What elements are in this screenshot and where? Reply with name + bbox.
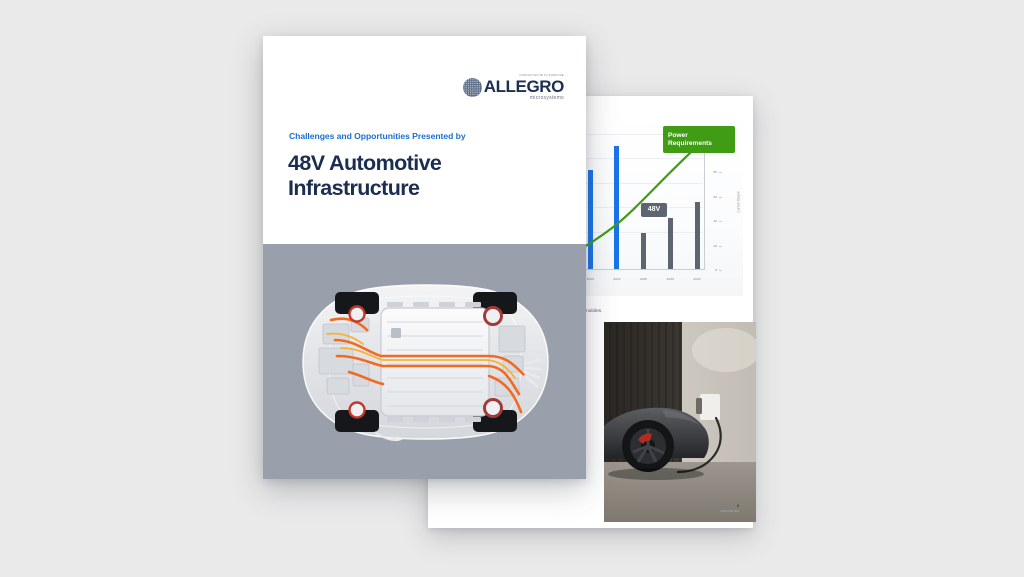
ev-chassis-top-view-graphic <box>263 244 586 479</box>
ev-charging-photo <box>604 322 756 522</box>
chart-badge-power-requirements: Power Requirements <box>663 126 735 153</box>
logo-wordmark: ALLEGRO <box>484 78 564 95</box>
allegro-logo: INNOVATION WITH PURPOSE ALLEGRO microsys… <box>463 74 564 101</box>
y-tick: 80 <box>714 170 717 174</box>
page-footer: allegromicro.com 3 AMS-0123-EN <box>707 504 739 514</box>
logo-subwordmark: microsystems <box>530 95 564 101</box>
x-tick: 2000 <box>585 277 595 281</box>
chart-badge-48v: 48V <box>641 203 667 217</box>
footer-site-and-page: allegromicro.com 3 <box>707 504 739 508</box>
footer-doc-code: AMS-0123-EN <box>707 509 739 513</box>
brochure-mockup-stage: 1980 1990 2000 2010 2020 2030 2040 0 20 … <box>0 0 1024 577</box>
chart-y-axis-label: Current Output <box>736 191 740 212</box>
cover-title-line-2: Infrastructure <box>288 176 558 201</box>
dotted-sphere-icon <box>463 78 482 97</box>
x-tick: 2040 <box>692 277 702 281</box>
x-tick: 2010 <box>612 277 622 281</box>
cover-subtitle: Challenges and Opportunities Presented b… <box>289 131 466 141</box>
cover-title-line-1: 48V Automotive <box>288 151 558 176</box>
cover-hero-image <box>263 244 586 479</box>
chart-y-tick-labels: 0 20 40 60 80 100 Current Output <box>705 134 719 270</box>
x-tick: 2020 <box>639 277 649 281</box>
footer-site: allegromicro.com <box>707 504 736 508</box>
brochure-cover-page: INNOVATION WITH PURPOSE ALLEGRO microsys… <box>263 36 586 479</box>
x-tick: 2030 <box>665 277 675 281</box>
ev-charging-photo-graphic <box>604 322 756 522</box>
footer-page-number: 3 <box>737 504 739 508</box>
y-tick: 20 <box>714 244 717 248</box>
cover-title: 48V Automotive Infrastructure <box>288 151 558 202</box>
y-tick: 0 <box>715 268 717 272</box>
cover-upper-white-area: INNOVATION WITH PURPOSE ALLEGRO microsys… <box>263 36 586 244</box>
y-tick: 60 <box>714 195 717 199</box>
y-tick: 40 <box>714 219 717 223</box>
